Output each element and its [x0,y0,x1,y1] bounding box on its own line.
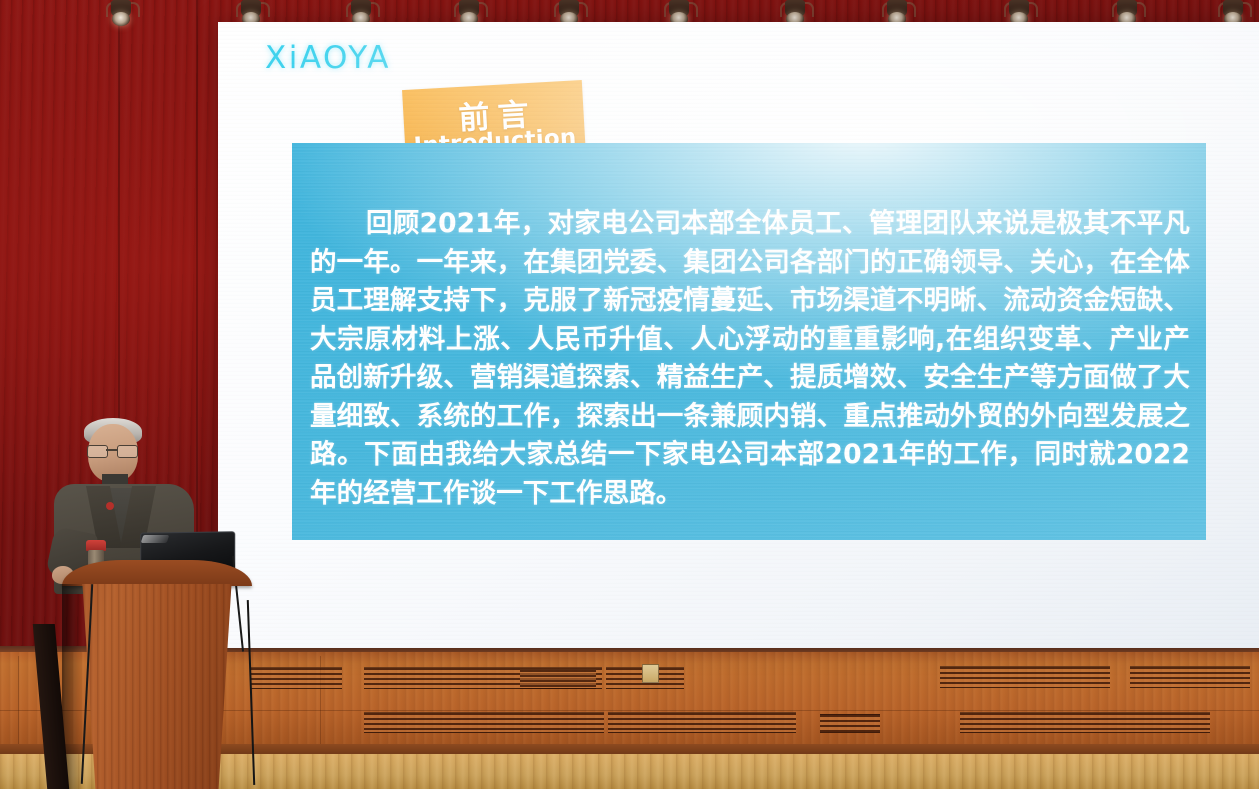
speaker-badge [106,502,114,510]
wall-vent [364,712,604,733]
brand-logo: XiAOYA [265,40,391,76]
wall-vent [940,666,1110,688]
wall-vent [250,667,342,689]
slide-body-text: 回顾2021年，对家电公司本部全体员工、管理团队来说是极其不平凡的一年。一年来，… [310,205,1190,513]
wall-vent [960,712,1210,733]
podium-top-surface [62,560,252,586]
wall-switch-plate [642,664,659,683]
wall-vent [520,669,596,689]
wall-vent [608,712,796,733]
glasses-icon [87,445,139,456]
panel-seam [18,656,19,748]
wall-vent [1130,666,1250,688]
slide-content-panel: 回顾2021年，对家电公司本部全体员工、管理团队来说是极其不平凡的一年。一年来，… [292,143,1206,540]
spotlight-icon [104,0,138,32]
podium-front-panel [76,584,238,789]
wall-vent [820,714,880,733]
projection-screen: XiAOYA 前言 Introduction 回顾2021年，对家电公司本部全体… [218,22,1259,648]
auditorium-photo: XiAOYA 前言 Introduction 回顾2021年，对家电公司本部全体… [0,0,1259,789]
